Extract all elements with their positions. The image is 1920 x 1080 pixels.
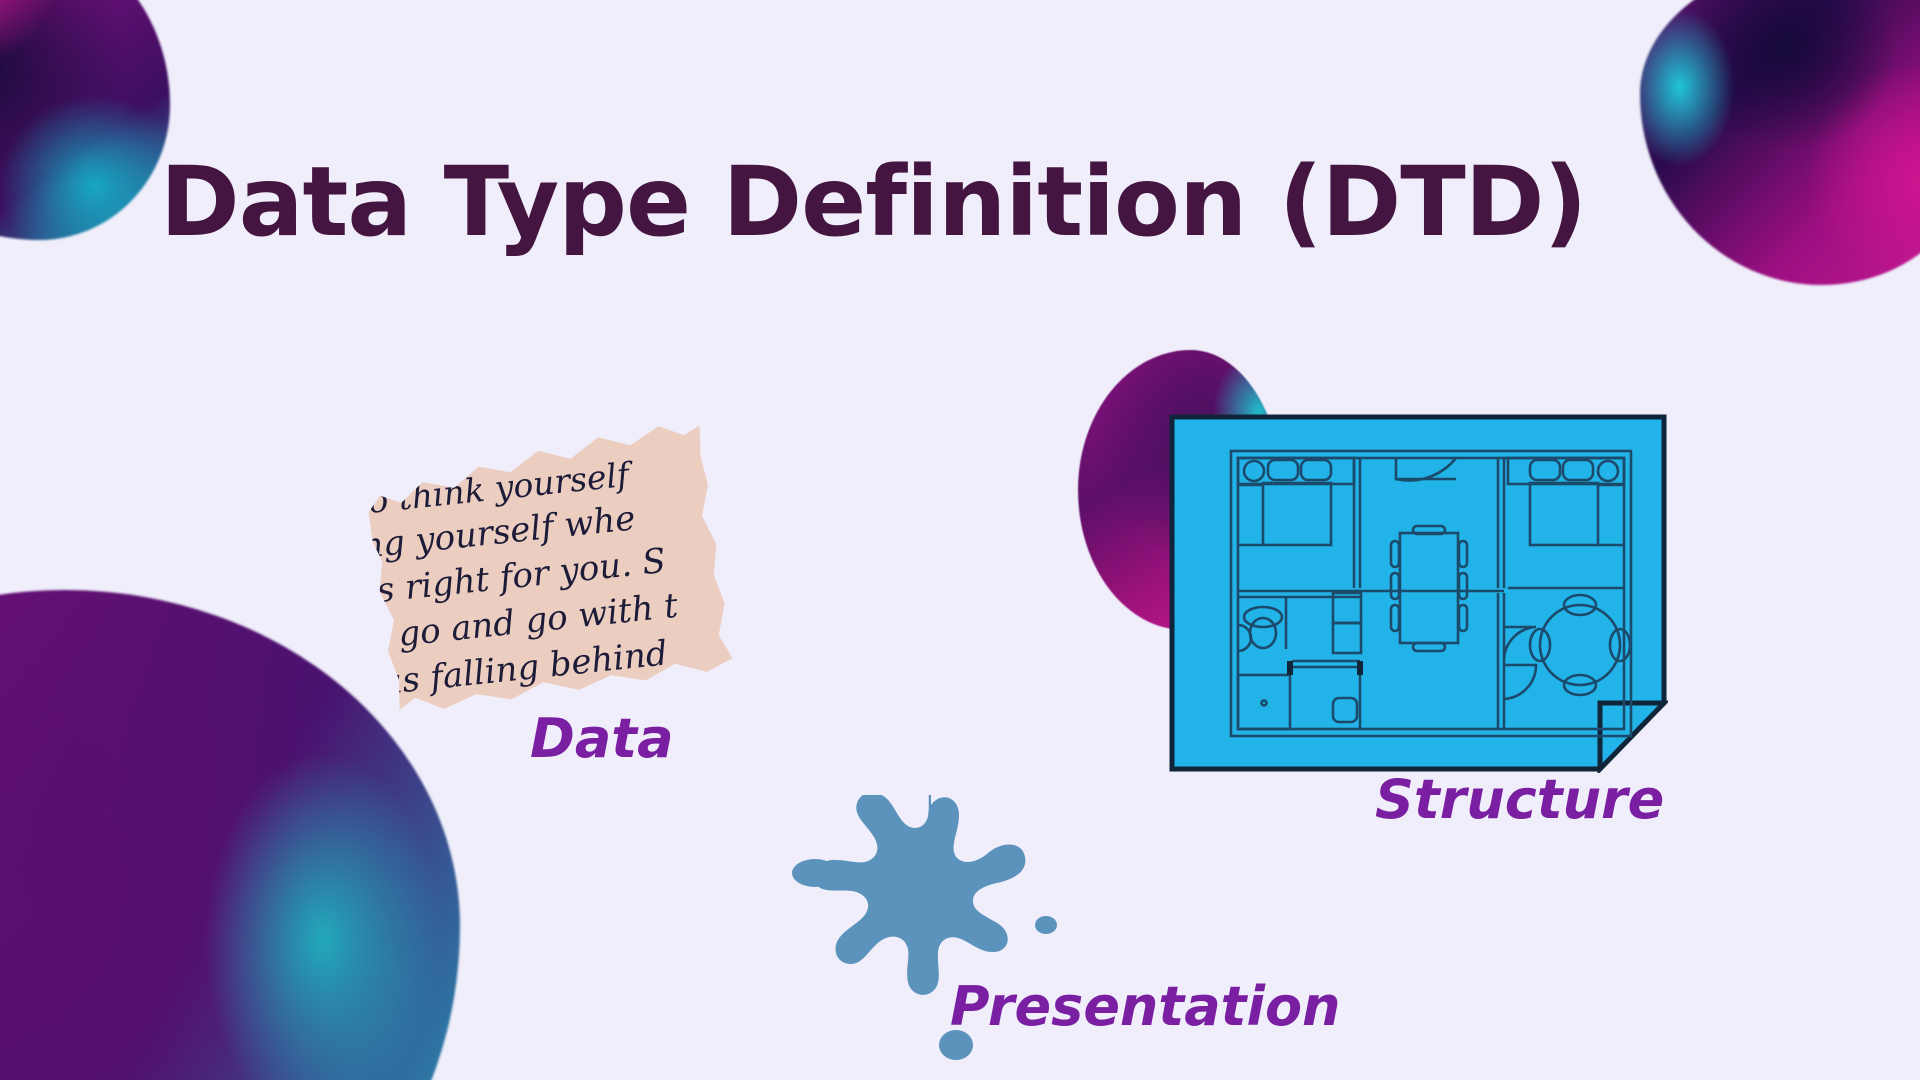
note-paper-surface: to think yourself ng yourself whe 's rig… [362,421,733,716]
floor-plan-blueprint-icon [1168,413,1668,773]
caption-presentation: Presentation [950,975,1341,1038]
torn-paper-note: to think yourself ng yourself whe 's rig… [362,421,733,716]
slide-canvas: Data Type Definition (DTD) to think your… [0,0,1920,1080]
top-right-blob [1640,0,1920,285]
caption-structure: Structure [1375,768,1664,831]
top-left-blob [0,0,170,240]
caption-data: Data [530,707,674,770]
page-title: Data Type Definition (DTD) [160,146,1586,258]
